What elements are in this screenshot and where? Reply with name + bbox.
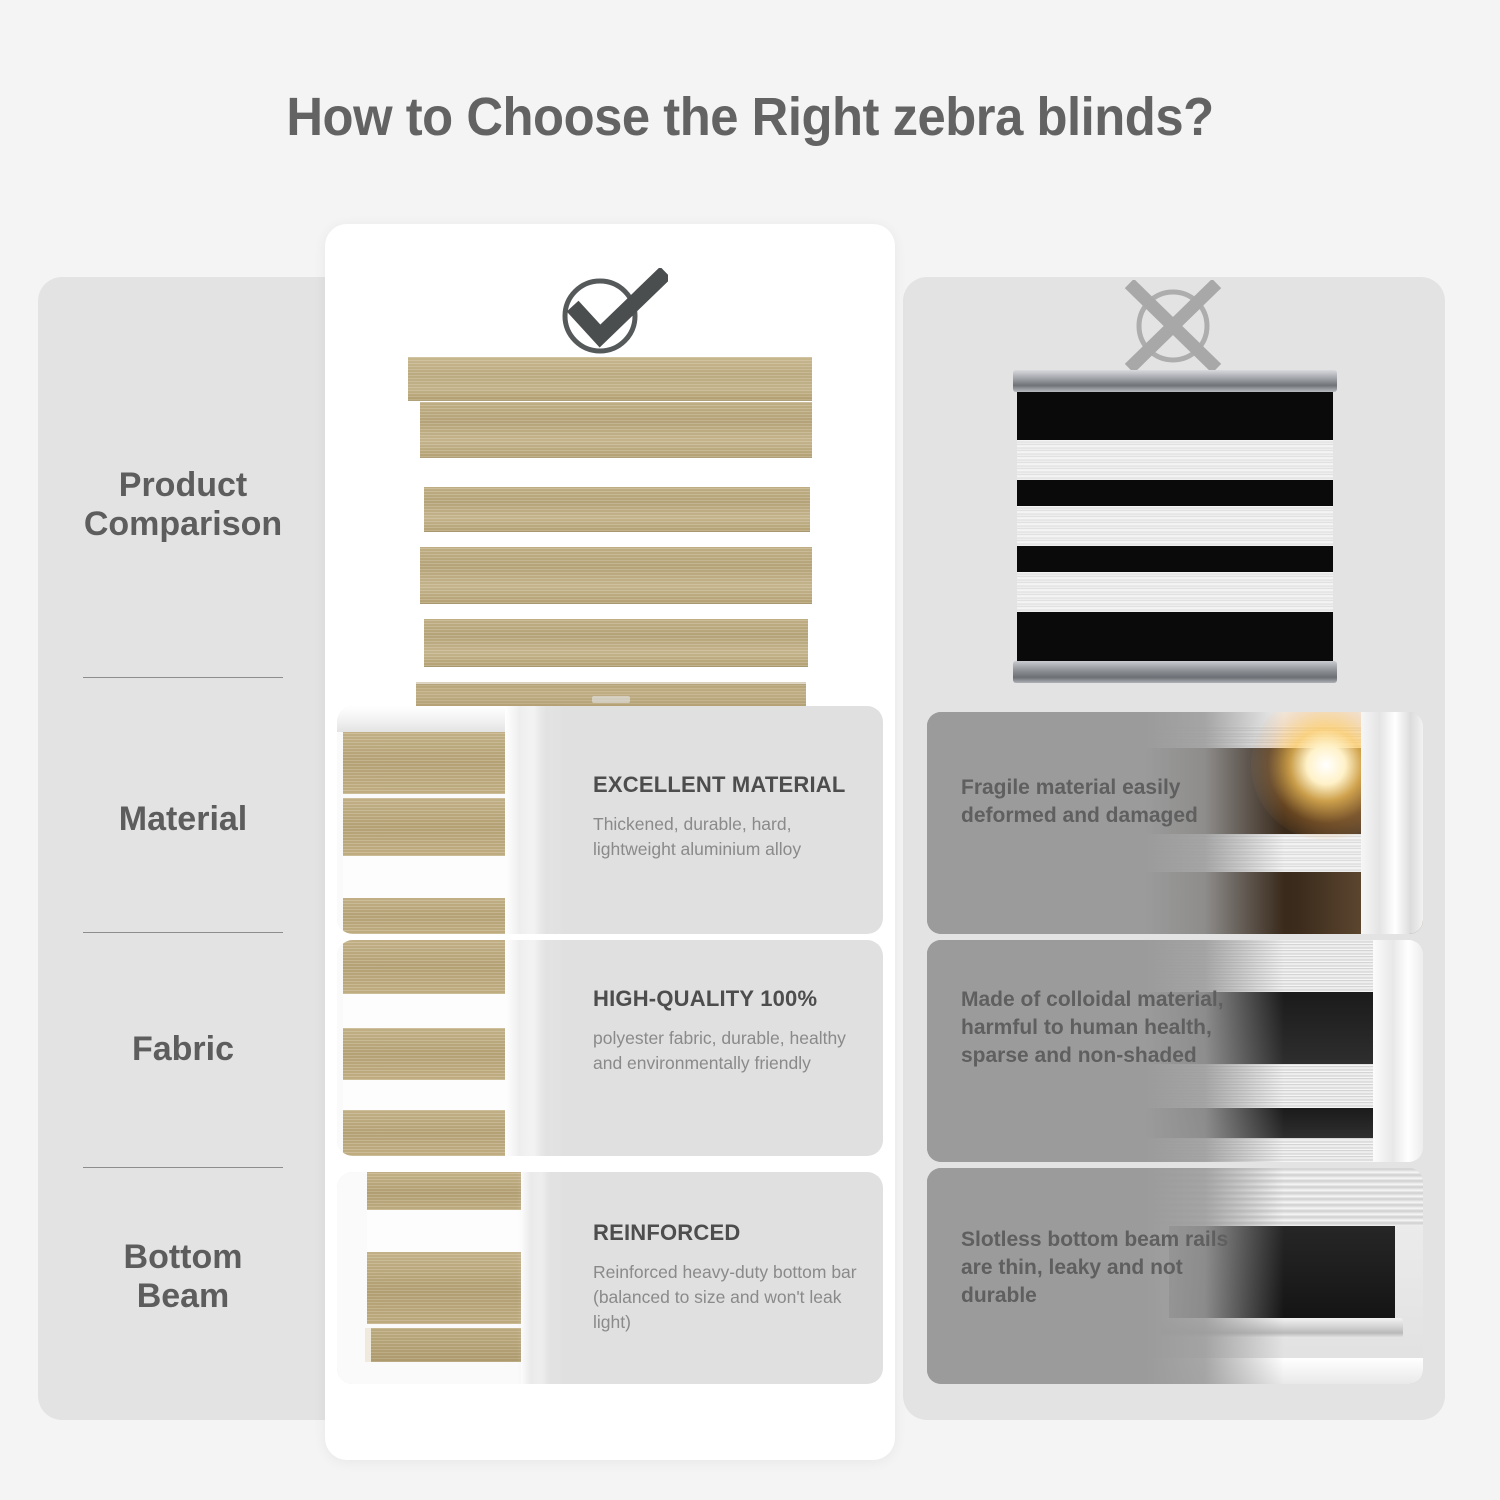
row-label-line1: Fabric [132, 1030, 234, 1069]
bad-blind-sheer-band [1017, 506, 1333, 546]
good-feature-text-bottom-beam: REINFORCED Reinforced heavy-duty bottom … [593, 1220, 873, 1335]
cross-circle-icon [1118, 280, 1228, 372]
row-divider-3 [83, 1167, 283, 1168]
row-label-material: Material [38, 785, 328, 855]
infographic-page: How to Choose the Right zebra blinds? Pr… [0, 0, 1500, 1500]
feature-body: Reinforced heavy-duty bottom bar (balanc… [593, 1260, 873, 1335]
bad-blind-bottom-rail [1013, 661, 1337, 683]
feature-title: HIGH-QUALITY 100% [593, 986, 873, 1012]
row-divider-1 [83, 677, 283, 678]
row-label-fabric: Fabric [38, 1015, 328, 1085]
bad-feature-text-bottom-beam: Slotless bottom beam rails are thin, lea… [961, 1226, 1231, 1310]
feature-body: Thickened, durable, hard, lightweight al… [593, 812, 873, 862]
row-label-product-comparison: Product Comparison [38, 445, 328, 565]
tan-blind-fabric-closeup-photo [337, 940, 563, 1156]
good-blind-slat [420, 547, 812, 604]
feature-body: polyester fabric, durable, healthy and e… [593, 1026, 873, 1076]
good-feature-card-fabric: HIGH-QUALITY 100% polyester fabric, dura… [337, 940, 883, 1156]
reinforced-bottom-bar-photo [337, 1172, 563, 1384]
good-feature-card-material: EXCELLENT MATERIAL Thickened, durable, h… [337, 706, 883, 934]
bad-feature-text-fabric: Made of colloidal material, harmful to h… [961, 986, 1231, 1070]
row-label-line1: Material [119, 800, 248, 839]
good-blind-headrail [408, 357, 812, 401]
bad-feature-card-material: Fragile material easily deformed and dam… [927, 712, 1423, 934]
bad-product-hero-image [1017, 378, 1333, 673]
row-label-bottom-beam: Bottom Beam [38, 1217, 328, 1337]
good-product-hero-image [408, 357, 812, 697]
good-feature-text-material: EXCELLENT MATERIAL Thickened, durable, h… [593, 772, 873, 862]
page-title: How to Choose the Right zebra blinds? [45, 86, 1455, 148]
good-blind-slat [424, 619, 808, 667]
row-label-line2: Comparison [84, 505, 282, 544]
row-label-line1: Product [84, 466, 282, 505]
bad-blind-sheer-band [1017, 440, 1333, 480]
feature-title: EXCELLENT MATERIAL [593, 772, 873, 798]
feature-title: REINFORCED [593, 1220, 873, 1246]
bad-feature-card-fabric: Made of colloidal material, harmful to h… [927, 940, 1423, 1162]
row-label-line2: Beam [124, 1277, 243, 1316]
bad-blind-sheer-band [1017, 572, 1333, 612]
good-blind-slat [424, 487, 810, 532]
row-divider-2 [83, 932, 283, 933]
row-label-line1: Bottom [124, 1238, 243, 1277]
good-feature-card-bottom-beam: REINFORCED Reinforced heavy-duty bottom … [337, 1172, 883, 1384]
tan-blind-on-white-window-frame-photo [337, 706, 563, 934]
bad-blind-headrail [1013, 370, 1337, 392]
good-blind-slat [420, 402, 812, 458]
bad-feature-text-material: Fragile material easily deformed and dam… [961, 774, 1231, 830]
row-label-column: Product Comparison Material Fabric Botto… [38, 277, 328, 1420]
check-circle-icon [548, 268, 668, 358]
bad-feature-card-bottom-beam: Slotless bottom beam rails are thin, lea… [927, 1168, 1423, 1384]
good-feature-text-fabric: HIGH-QUALITY 100% polyester fabric, dura… [593, 986, 873, 1076]
